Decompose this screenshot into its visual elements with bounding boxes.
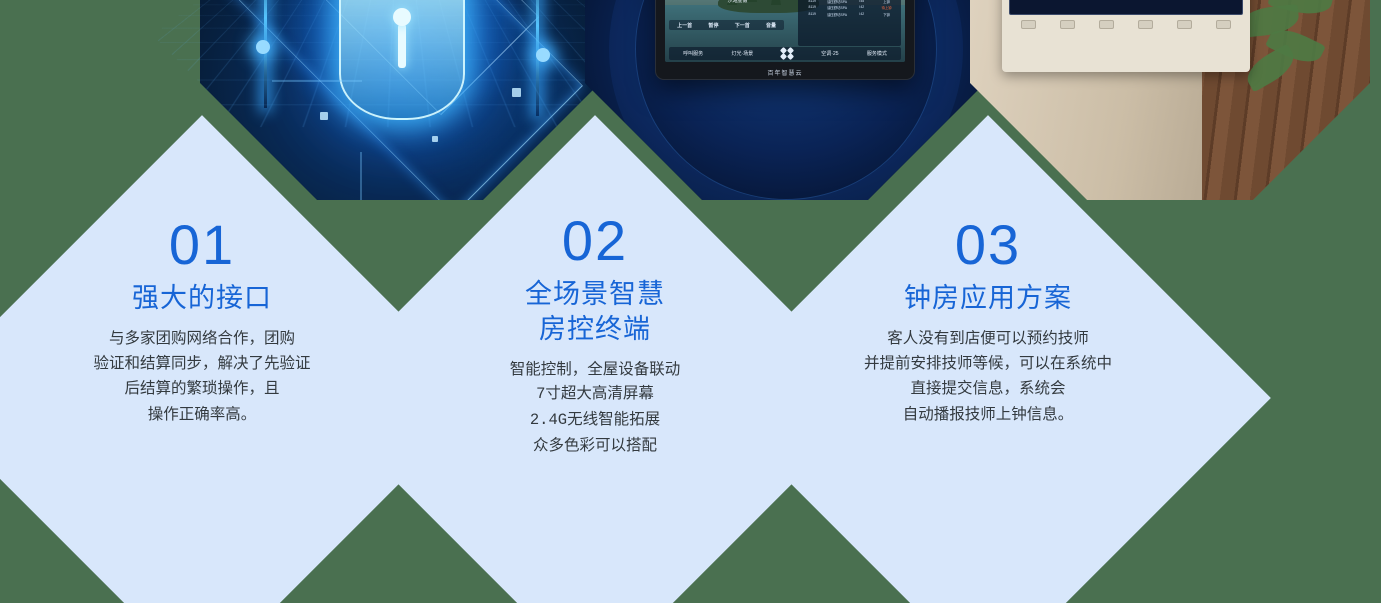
hard-button-1[interactable] xyxy=(1021,20,1036,29)
media-controls[interactable]: 上一首 暂停 下一首 音量 xyxy=(669,20,784,30)
service-mode-button[interactable]: 服务模式 xyxy=(867,50,887,57)
desc-line: 自动播报技师上钟信息。 xyxy=(864,402,1112,427)
desc-line: 直接提交信息，系统会 xyxy=(864,376,1112,401)
desc-line: 智能控制，全屋设备联动 xyxy=(510,357,681,382)
tablet-screen: 沙滩度假 22:35 SPA6房 25°C 11/24 xyxy=(665,0,905,62)
light-beam-left xyxy=(264,0,267,108)
prev-track-button[interactable]: 上一首 xyxy=(677,22,692,29)
chip-dot xyxy=(432,136,438,142)
desc-line: 并提前安排技师等候，可以在系统中 xyxy=(864,351,1112,376)
hard-button-3[interactable] xyxy=(1099,20,1114,29)
desc-line: 操作正确率高。 xyxy=(93,402,310,427)
panel-number-03: 03 xyxy=(955,216,1021,273)
table-row: 8119油压舒坊SPAI42待上钟 xyxy=(800,4,899,10)
service-table: 客人 项目 始钟 状态 8119油压舒坊SPAI42下钟 8119正骨刮痧全身推… xyxy=(798,0,901,46)
apps-grid-icon[interactable] xyxy=(781,48,793,60)
potted-plant xyxy=(1234,0,1354,136)
panel-title-line: 全场景智慧 xyxy=(525,277,665,312)
shield-icon xyxy=(339,0,465,120)
wallpaper-caption: 沙滩度假 xyxy=(727,0,747,4)
pause-button[interactable]: 暂停 xyxy=(708,22,718,29)
wall-panel-hard-buttons[interactable] xyxy=(1009,20,1243,29)
table-row: 8119油压舒坊SPAI45上钟 xyxy=(800,0,899,4)
node-glow-1 xyxy=(256,40,270,54)
desc-line: 2.4G无线智能拓展 xyxy=(510,408,681,433)
circuit-trace xyxy=(272,80,362,82)
wall-control-device[interactable]: ▦ 客房控制 技师管理 房间服务 房态设置 房 号 CALL服 xyxy=(1002,0,1250,72)
desc-line: 验证和结算同步，解决了先验证 xyxy=(93,351,310,376)
volume-button[interactable]: 音量 xyxy=(766,22,776,29)
wall-panel-side-list[interactable]: 房 号 CALL服 房 号 补钟中 房 号 xyxy=(1013,0,1067,11)
desc-line: 后结算的繁琐操作，且 xyxy=(93,376,310,401)
desc-line: 客人没有到店便可以预约技师 xyxy=(864,326,1112,351)
aircon-button[interactable]: 空调·25 xyxy=(821,50,838,57)
wall-panel-column-1[interactable]: 点钟专家技师/名 排钟轮排/名 SPA技师 看房/待命区 看房/待命区 xyxy=(1069,0,1153,11)
panel-title-02: 全场景智慧 房控终端 xyxy=(525,277,665,347)
tablet-info-column: 22:35 SPA6房 25°C 11/24 客人 项目 xyxy=(798,0,901,46)
chip-dot xyxy=(512,88,521,97)
panel-title-01: 强大的接口 xyxy=(132,281,272,316)
circuit-trace xyxy=(360,152,362,200)
hard-button-4[interactable] xyxy=(1138,20,1153,29)
hard-button-5[interactable] xyxy=(1177,20,1192,29)
tablet-bottom-bar[interactable]: 呼叫服务 灯光·场景 空调·25 服务模式 xyxy=(669,47,901,60)
table-row: 8119油压舒坊SPAI42下钟 xyxy=(800,10,899,16)
tablet-device: CSI280 沙滩度假 22:35 xyxy=(655,0,915,80)
panel-number-02: 02 xyxy=(562,212,628,269)
infographic-stage: CSI280 沙滩度假 22:35 xyxy=(0,0,1381,603)
desc-line: 众多色彩可以搭配 xyxy=(510,433,681,458)
lighting-scene-button[interactable]: 灯光·场景 xyxy=(731,50,753,57)
next-track-button[interactable]: 下一首 xyxy=(735,22,750,29)
panel-title-03: 钟房应用方案 xyxy=(904,281,1072,316)
panel-description-01: 与多家团购网络合作，团购 验证和结算同步，解决了先验证 后结算的繁琐操作，且 操… xyxy=(93,326,310,426)
wall-panel-column-2[interactable]: 定钟服务 推荐房间 预离房间 客房预定 更多技师房型/2间 xyxy=(1155,0,1239,11)
hard-button-2[interactable] xyxy=(1060,20,1075,29)
panel-number-01: 01 xyxy=(169,216,235,273)
hard-button-6[interactable] xyxy=(1216,20,1231,29)
desc-line: 与多家团购网络合作，团购 xyxy=(93,326,310,351)
chip-dot xyxy=(320,112,328,120)
call-service-button[interactable]: 呼叫服务 xyxy=(683,50,703,57)
tablet-brand-label: 百年智慧云 xyxy=(656,68,914,77)
panel-description-02: 智能控制，全屋设备联动 7寸超大高清屏幕 2.4G无线智能拓展 众多色彩可以搭配 xyxy=(510,357,681,457)
node-glow-2 xyxy=(536,48,550,62)
panel-description-03: 客人没有到店便可以预约技师 并提前安排技师等候，可以在系统中 直接提交信息，系统… xyxy=(864,326,1112,426)
panel-title-line: 房控终端 xyxy=(525,312,665,347)
wall-panel-screen[interactable]: ▦ 客房控制 技师管理 房间服务 房态设置 房 号 CALL服 xyxy=(1009,0,1243,15)
desc-line: 7寸超大高清屏幕 xyxy=(510,382,681,407)
